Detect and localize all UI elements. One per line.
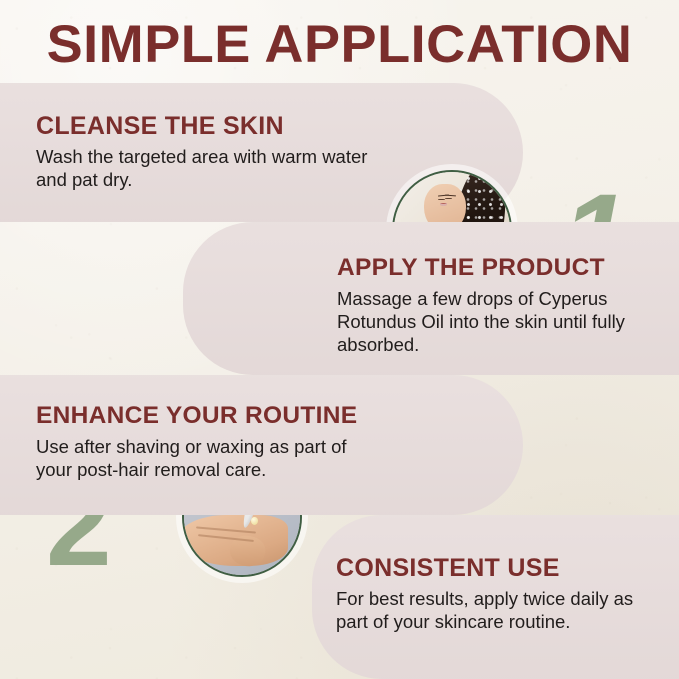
infographic-canvas: SIMPLE APPLICATION CLEANSE THE SKIN Wash… bbox=[0, 0, 679, 679]
step-row-3: ENHANCE YOUR ROUTINE Use after shaving o… bbox=[0, 375, 679, 515]
step-3-text: ENHANCE YOUR ROUTINE Use after shaving o… bbox=[36, 403, 386, 482]
step-3-body: Use after shaving or waxing as part of y… bbox=[36, 436, 386, 482]
step-4-body: For best results, apply twice daily as p… bbox=[336, 588, 666, 634]
step-row-2: 2 APPLY THE PRODUCT Massage a few drops … bbox=[0, 222, 679, 375]
step-row-1: CLEANSE THE SKIN Wash the targeted area … bbox=[0, 83, 679, 222]
step-1-body: Wash the targeted area with warm water a… bbox=[36, 146, 376, 192]
step-4-title: CONSISTENT USE bbox=[336, 555, 666, 581]
step-2-body: Massage a few drops of Cyperus Rotundus … bbox=[337, 288, 657, 357]
step-4-text: CONSISTENT USE For best results, apply t… bbox=[336, 555, 666, 634]
step-1-text: CLEANSE THE SKIN Wash the targeted area … bbox=[36, 113, 376, 192]
step-2-title: APPLY THE PRODUCT bbox=[337, 255, 657, 281]
step-2-text: APPLY THE PRODUCT Massage a few drops of… bbox=[337, 255, 657, 357]
step-row-4: 4 CONSISTENT USE For best results, apply… bbox=[0, 515, 679, 679]
step-1-title: CLEANSE THE SKIN bbox=[36, 113, 376, 139]
step-3-title: ENHANCE YOUR ROUTINE bbox=[36, 403, 386, 429]
page-title: SIMPLE APPLICATION bbox=[0, 14, 679, 75]
